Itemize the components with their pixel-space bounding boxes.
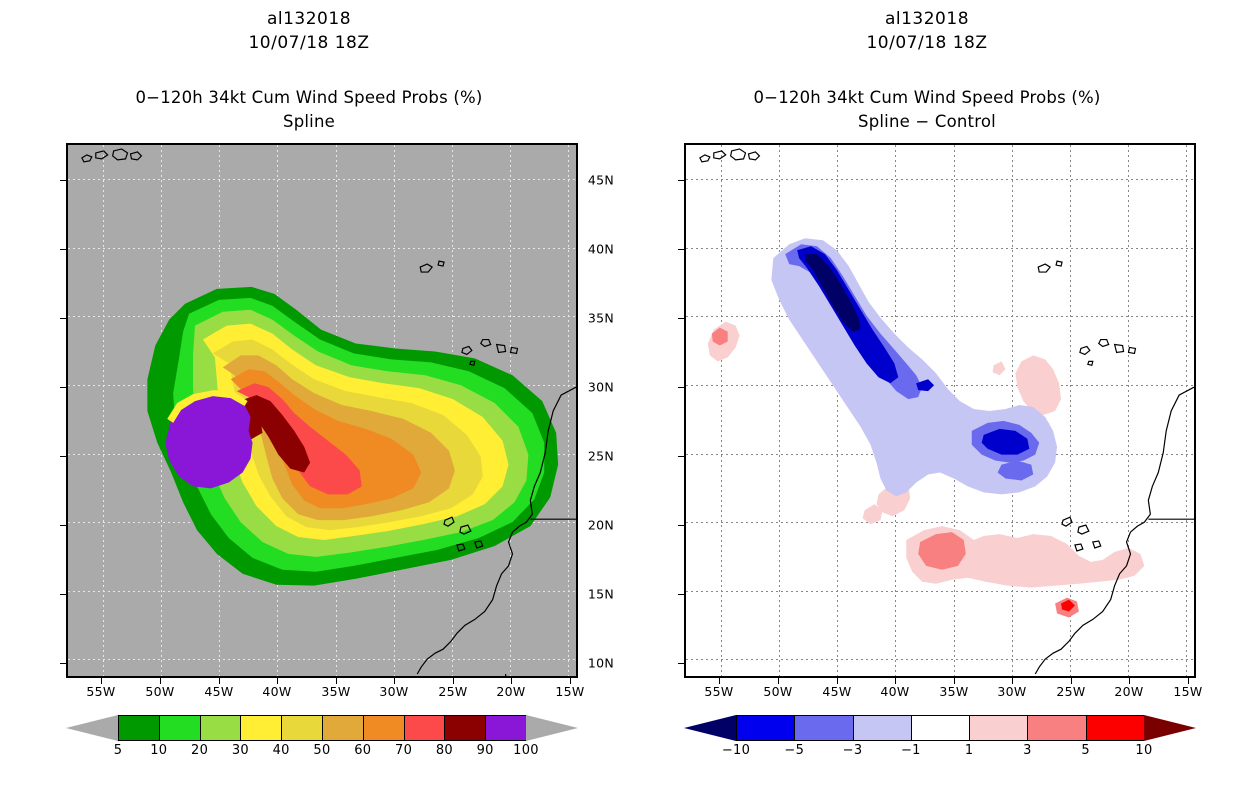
chart-subtitle-left: Spline (0, 112, 618, 131)
colorbar-tick-label: 20 (191, 743, 208, 758)
xtick-mark (1188, 678, 1189, 684)
xtick-mark (511, 678, 512, 684)
storm-id-left: al132018 (0, 9, 618, 29)
ytick-mark (60, 249, 66, 250)
map-plot-spline (66, 143, 578, 678)
xtick-label: 55W (704, 684, 733, 699)
colorbar-under-arrow (684, 715, 736, 741)
ytick-mark (678, 456, 684, 457)
colorbar-tick-label: 30 (232, 743, 249, 758)
xtick-mark (895, 678, 896, 684)
xtick-label: 20W (496, 684, 525, 699)
xtick-label: 50W (763, 684, 792, 699)
colorbar-band (911, 715, 969, 741)
probability-contours (68, 145, 576, 676)
ytick-label: 35N (568, 311, 614, 326)
colorbar-band (200, 715, 241, 741)
colorbar-band (118, 715, 159, 741)
colorbar-tick-label: −10 (722, 743, 750, 758)
probability-colorbar: 5102030405060708090100 (66, 715, 578, 741)
ytick-mark (678, 249, 684, 250)
ytick-label: 15N (568, 587, 614, 602)
ytick-mark (60, 594, 66, 595)
ytick-mark (678, 594, 684, 595)
map-plot-difference (684, 143, 1196, 678)
xtick-mark (336, 678, 337, 684)
colorbar-band (969, 715, 1027, 741)
colorbar-band (240, 715, 281, 741)
colorbar-tick-label: 5 (114, 743, 123, 758)
colorbar-tick-label: 10 (150, 743, 167, 758)
ytick-mark (678, 180, 684, 181)
colorbar-band (322, 715, 363, 741)
colorbar-band (853, 715, 911, 741)
xtick-mark (954, 678, 955, 684)
ytick-mark (60, 525, 66, 526)
colorbar-tick-label: 40 (273, 743, 290, 758)
colorbar-tick-label: −5 (784, 743, 804, 758)
chart-title-left: 0−120h 34kt Cum Wind Speed Probs (%) (0, 88, 618, 107)
colorbar-band (404, 715, 445, 741)
colorbar-tick-label: 60 (354, 743, 371, 758)
ytick-mark (678, 525, 684, 526)
ytick-mark (678, 318, 684, 319)
colorbar-band (159, 715, 200, 741)
xtick-label: 25W (438, 684, 467, 699)
xtick-mark (160, 678, 161, 684)
colorbar-band (1086, 715, 1144, 741)
colorbar-tick-label: 100 (513, 743, 539, 758)
xtick-label: 45W (822, 684, 851, 699)
xtick-label: 40W (262, 684, 291, 699)
panel-spline: al132018 10/07/18 18Z 0−120h 34kt Cum Wi… (0, 0, 618, 800)
azores-coastline (700, 149, 760, 162)
xtick-mark (778, 678, 779, 684)
xtick-mark (570, 678, 571, 684)
xtick-label: 55W (86, 684, 115, 699)
ytick-label: 40N (568, 242, 614, 257)
colorbar-tick-label: 50 (313, 743, 330, 758)
ytick-mark (60, 318, 66, 319)
ytick-mark (60, 456, 66, 457)
valid-time-right: 10/07/18 18Z (618, 33, 1236, 53)
difference-contours (686, 145, 1194, 676)
xtick-label: 45W (204, 684, 233, 699)
xtick-mark (219, 678, 220, 684)
xtick-mark (719, 678, 720, 684)
ytick-mark (60, 387, 66, 388)
ytick-label: 20N (568, 518, 614, 533)
ytick-mark (678, 663, 684, 664)
ytick-label: 30N (568, 380, 614, 395)
colorbar-band (444, 715, 485, 741)
xtick-label: 35W (321, 684, 350, 699)
colorbar-tick-label: 80 (436, 743, 453, 758)
chart-title-right: 0−120h 34kt Cum Wind Speed Probs (%) (618, 88, 1236, 107)
xtick-mark (453, 678, 454, 684)
chart-subtitle-right: Spline − Control (618, 112, 1236, 131)
colorbar-tick-label: 1 (965, 743, 974, 758)
colorbar-band (485, 715, 526, 741)
xtick-mark (1012, 678, 1013, 684)
colorbar-tick-label: 70 (395, 743, 412, 758)
xtick-label: 35W (939, 684, 968, 699)
ytick-label: 25N (568, 449, 614, 464)
xtick-mark (394, 678, 395, 684)
valid-time-left: 10/07/18 18Z (0, 33, 618, 53)
xtick-label: 25W (1056, 684, 1085, 699)
colorbar-under-arrow (66, 715, 118, 741)
colorbar-over-arrow (526, 715, 578, 741)
colorbar-tick-label: −3 (843, 743, 863, 758)
ytick-mark (60, 180, 66, 181)
xtick-label: 30W (997, 684, 1026, 699)
xtick-mark (837, 678, 838, 684)
colorbar-band (363, 715, 404, 741)
colorbar-band (794, 715, 852, 741)
colorbar-tick-label: 5 (1081, 743, 1090, 758)
azores-coastline (82, 149, 142, 162)
colorbar-band (1027, 715, 1085, 741)
xtick-label: 15W (555, 684, 584, 699)
xtick-label: 20W (1114, 684, 1143, 699)
ytick-label: 10N (568, 656, 614, 671)
xtick-label: 50W (145, 684, 174, 699)
xtick-mark (277, 678, 278, 684)
colorbar-over-arrow (1144, 715, 1196, 741)
colorbar-band (736, 715, 794, 741)
xtick-label: 40W (880, 684, 909, 699)
colorbar-tick-label: 3 (1023, 743, 1032, 758)
xtick-mark (101, 678, 102, 684)
ytick-label: 45N (568, 173, 614, 188)
colorbar-tick-label: −1 (901, 743, 921, 758)
xtick-label: 15W (1173, 684, 1202, 699)
panel-spline-minus-control: al132018 10/07/18 18Z 0−120h 34kt Cum Wi… (618, 0, 1236, 800)
ytick-mark (60, 663, 66, 664)
difference-colorbar: −10−5−3−113510 (684, 715, 1196, 741)
xtick-label: 30W (379, 684, 408, 699)
colorbar-tick-label: 90 (477, 743, 494, 758)
storm-id-right: al132018 (618, 9, 1236, 29)
ytick-mark (678, 387, 684, 388)
xtick-mark (1071, 678, 1072, 684)
colorbar-band (281, 715, 322, 741)
xtick-mark (1129, 678, 1130, 684)
colorbar-tick-label: 10 (1135, 743, 1152, 758)
